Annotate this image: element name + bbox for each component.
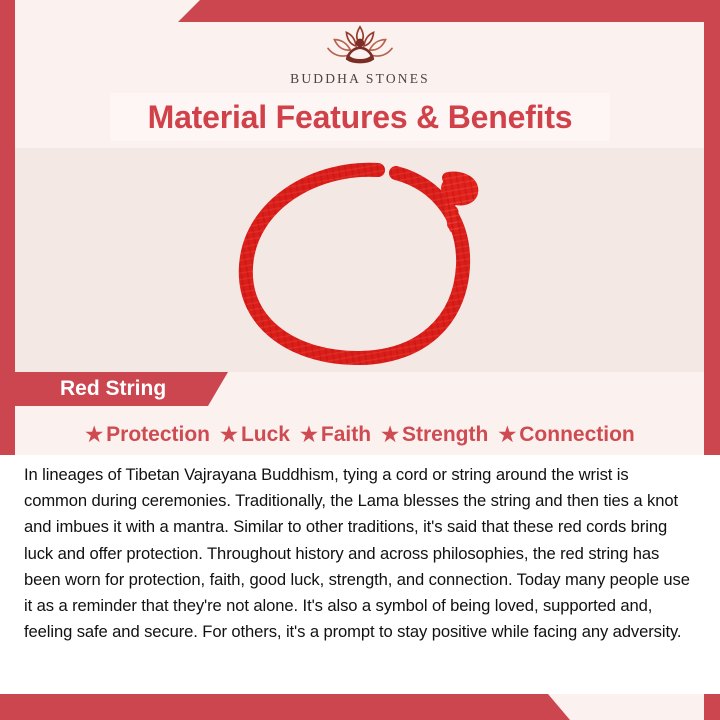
benefit-item-protection: ★ Protection: [85, 423, 210, 447]
product-image: [0, 150, 720, 372]
star-icon: ★: [85, 425, 103, 445]
brand-logo: BUDDHA STONES: [0, 22, 720, 92]
product-name-ribbon: Red String: [0, 372, 228, 406]
benefits-row: ★ Protection ★ Luck ★ Faith ★ Strength ★…: [15, 418, 705, 452]
product-name-label: Red String: [0, 377, 166, 401]
benefit-label: Strength: [402, 423, 488, 447]
lotus-meditation-icon: [312, 22, 408, 70]
benefit-item-connection: ★ Connection: [498, 423, 634, 447]
infographic-card: BUDDHA STONES Material Features & Benefi…: [0, 0, 720, 720]
star-icon: ★: [220, 425, 238, 445]
description-text: In lineages of Tibetan Vajrayana Buddhis…: [24, 462, 696, 645]
benefit-label: Protection: [106, 423, 210, 447]
benefit-item-strength: ★ Strength: [381, 423, 488, 447]
page-title: Material Features & Benefits: [148, 99, 573, 136]
star-icon: ★: [498, 425, 516, 445]
star-icon: ★: [381, 425, 399, 445]
brand-name: BUDDHA STONES: [290, 71, 430, 87]
red-string-bracelet-icon: [220, 154, 500, 369]
benefit-item-faith: ★ Faith: [300, 423, 371, 447]
title-banner: Material Features & Benefits: [110, 93, 610, 141]
benefit-label: Faith: [321, 423, 371, 447]
star-icon: ★: [300, 425, 318, 445]
benefit-label: Luck: [241, 423, 290, 447]
benefit-label: Connection: [519, 423, 635, 447]
bottom-accent-bar: [0, 694, 720, 720]
description-block: In lineages of Tibetan Vajrayana Buddhis…: [0, 455, 720, 694]
benefit-item-luck: ★ Luck: [220, 423, 290, 447]
top-accent-bar: [0, 0, 720, 22]
